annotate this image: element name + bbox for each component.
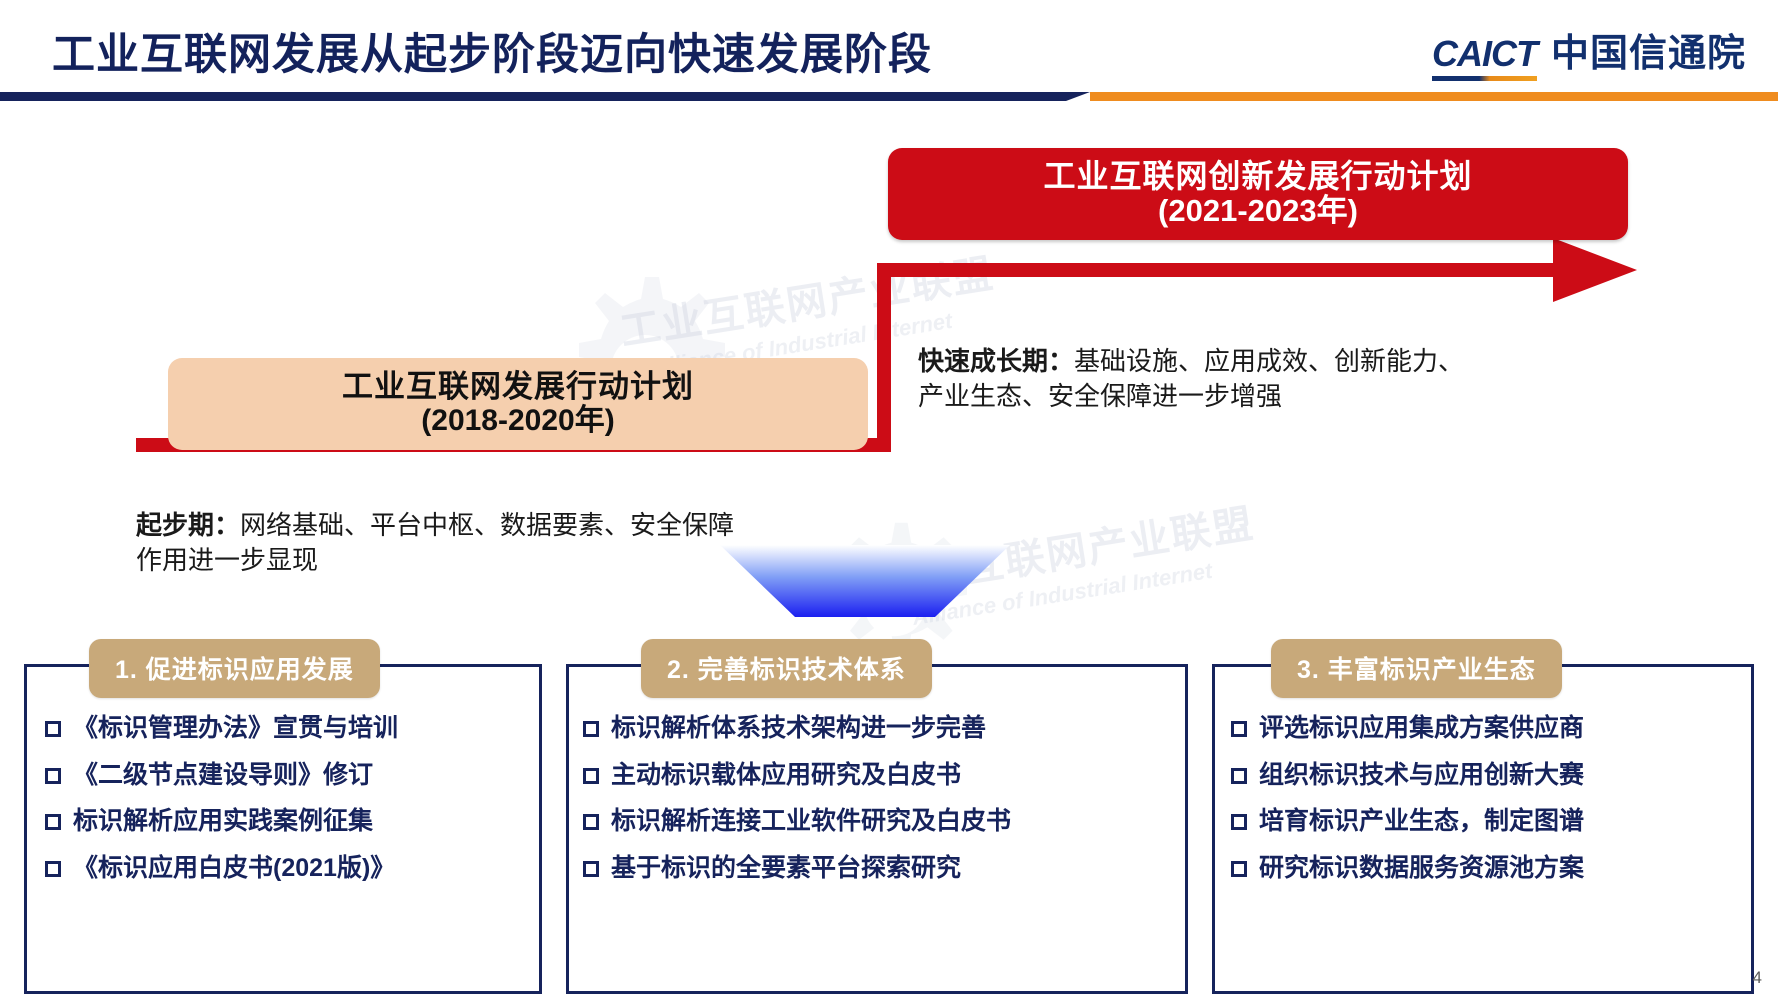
slide-header: 工业互联网发展从起步阶段迈向快速发展阶段 CAICT 中国信通院 bbox=[0, 0, 1778, 100]
list-item-label: 《标识应用白皮书(2021版)》 bbox=[73, 855, 395, 883]
header-divider-rule bbox=[0, 92, 1778, 101]
checkbox-square-icon bbox=[45, 814, 61, 830]
checkbox-square-icon bbox=[45, 861, 61, 877]
list-item-label: 主动标识载体应用研究及白皮书 bbox=[611, 762, 961, 790]
checkbox-square-icon bbox=[45, 721, 61, 737]
list-item: 组织标识技术与应用创新大赛 bbox=[1231, 762, 1737, 790]
logo-latin-text: CAICT bbox=[1432, 33, 1537, 81]
list-item-label: 评选标识应用集成方案供应商 bbox=[1259, 715, 1584, 743]
list-item: 《标识应用白皮书(2021版)》 bbox=[45, 855, 525, 883]
plan-new-title: 工业互联网创新发展行动计划 bbox=[1043, 159, 1472, 194]
panel-promote-identifier-application: 1. 促进标识应用发展 《标识管理办法》宣贯与培训 《二级节点建设导则》修订 标… bbox=[24, 664, 542, 994]
checkbox-square-icon bbox=[1231, 768, 1247, 784]
header-rule-orange-segment bbox=[1090, 92, 1778, 101]
checkbox-square-icon bbox=[1231, 861, 1247, 877]
plan-old-period: (2018-2020年) bbox=[421, 404, 614, 438]
list-item: 《二级节点建设导则》修订 bbox=[45, 762, 525, 790]
list-item: 培育标识产业生态，制定图谱 bbox=[1231, 808, 1737, 836]
panel-enrich-identifier-industry-ecosystem: 3. 丰富标识产业生态 评选标识应用集成方案供应商 组织标识技术与应用创新大赛 … bbox=[1212, 664, 1754, 994]
list-item: 标识解析连接工业软件研究及白皮书 bbox=[583, 808, 1171, 836]
plan-banner-2021-2023: 工业互联网创新发展行动计划 (2021-2023年) bbox=[888, 148, 1628, 240]
panel-1-body: 《标识管理办法》宣贯与培训 《二级节点建设导则》修订 标识解析应用实践案例征集 … bbox=[27, 667, 539, 892]
phase-fast-line-1: 快速成长期：基础设施、应用成效、创新能力、 bbox=[918, 344, 1464, 379]
list-item-label: 基于标识的全要素平台探索研究 bbox=[611, 855, 961, 883]
list-item-label: 培育标识产业生态，制定图谱 bbox=[1259, 808, 1584, 836]
header-rule-blue-segment bbox=[0, 92, 1090, 101]
caict-logo: CAICT 中国信通院 bbox=[1432, 22, 1746, 81]
list-item-label: 标识解析应用实践案例征集 bbox=[73, 808, 373, 836]
panel-2-body: 标识解析体系技术架构进一步完善 主动标识载体应用研究及白皮书 标识解析连接工业软… bbox=[569, 667, 1185, 892]
phase-startup-label: 起步期： bbox=[136, 510, 240, 540]
plan-new-period: (2021-2023年) bbox=[1158, 194, 1358, 229]
phase-startup-text: 起步期：网络基础、平台中枢、数据要素、安全保障 作用进一步显现 bbox=[136, 508, 734, 578]
phase-startup-line-1: 起步期：网络基础、平台中枢、数据要素、安全保障 bbox=[136, 508, 734, 543]
list-item: 评选标识应用集成方案供应商 bbox=[1231, 715, 1737, 743]
list-item: 主动标识载体应用研究及白皮书 bbox=[583, 762, 1171, 790]
list-item-label: 研究标识数据服务资源池方案 bbox=[1259, 855, 1584, 883]
panel-3-body: 评选标识应用集成方案供应商 组织标识技术与应用创新大赛 培育标识产业生态，制定图… bbox=[1215, 667, 1751, 892]
checkbox-square-icon bbox=[583, 721, 599, 737]
panel-1-header: 1. 促进标识应用发展 bbox=[89, 639, 380, 698]
list-item-label: 标识解析体系技术架构进一步完善 bbox=[611, 715, 986, 743]
panel-improve-identifier-tech-system: 2. 完善标识技术体系 标识解析体系技术架构进一步完善 主动标识载体应用研究及白… bbox=[566, 664, 1188, 994]
phase-fast-label: 快速成长期： bbox=[918, 346, 1074, 376]
logo-underline-accent bbox=[1432, 76, 1537, 81]
plan-old-title: 工业互联网发展行动计划 bbox=[342, 370, 694, 403]
list-item: 《标识管理办法》宣贯与培训 bbox=[45, 715, 525, 743]
checkbox-square-icon bbox=[583, 814, 599, 830]
list-item-label: 标识解析连接工业软件研究及白皮书 bbox=[611, 808, 1011, 836]
list-item-label: 组织标识技术与应用创新大赛 bbox=[1259, 762, 1584, 790]
checkbox-square-icon bbox=[1231, 814, 1247, 830]
phase-startup-line-2: 作用进一步显现 bbox=[136, 543, 734, 578]
logo-latin-label: CAICT bbox=[1432, 33, 1537, 74]
blue-funnel-shape bbox=[720, 545, 1010, 625]
checkbox-square-icon bbox=[1231, 721, 1247, 737]
list-item-label: 《标识管理办法》宣贯与培训 bbox=[73, 715, 398, 743]
phase-fast-body-1: 基础设施、应用成效、创新能力、 bbox=[1074, 346, 1464, 376]
plan-banner-2018-2020: 工业互联网发展行动计划 (2018-2020年) bbox=[168, 358, 868, 450]
checkbox-square-icon bbox=[583, 768, 599, 784]
page-number: 4 bbox=[1753, 968, 1762, 988]
panel-3-header: 3. 丰富标识产业生态 bbox=[1271, 639, 1562, 698]
phase-startup-body-1: 网络基础、平台中枢、数据要素、安全保障 bbox=[240, 510, 734, 540]
phase-fast-line-2: 产业生态、安全保障进一步增强 bbox=[918, 379, 1464, 414]
panel-2-header: 2. 完善标识技术体系 bbox=[641, 639, 932, 698]
checkbox-square-icon bbox=[583, 861, 599, 877]
phase-fast-growth-text: 快速成长期：基础设施、应用成效、创新能力、 产业生态、安全保障进一步增强 bbox=[918, 344, 1464, 414]
checkbox-square-icon bbox=[45, 768, 61, 784]
list-item: 基于标识的全要素平台探索研究 bbox=[583, 855, 1171, 883]
page-title: 工业互联网发展从起步阶段迈向快速发展阶段 bbox=[52, 20, 932, 82]
logo-chinese-label: 中国信通院 bbox=[1551, 22, 1746, 77]
list-item-label: 《二级节点建设导则》修订 bbox=[73, 762, 373, 790]
list-item: 标识解析体系技术架构进一步完善 bbox=[583, 715, 1171, 743]
list-item: 研究标识数据服务资源池方案 bbox=[1231, 855, 1737, 883]
list-item: 标识解析应用实践案例征集 bbox=[45, 808, 525, 836]
